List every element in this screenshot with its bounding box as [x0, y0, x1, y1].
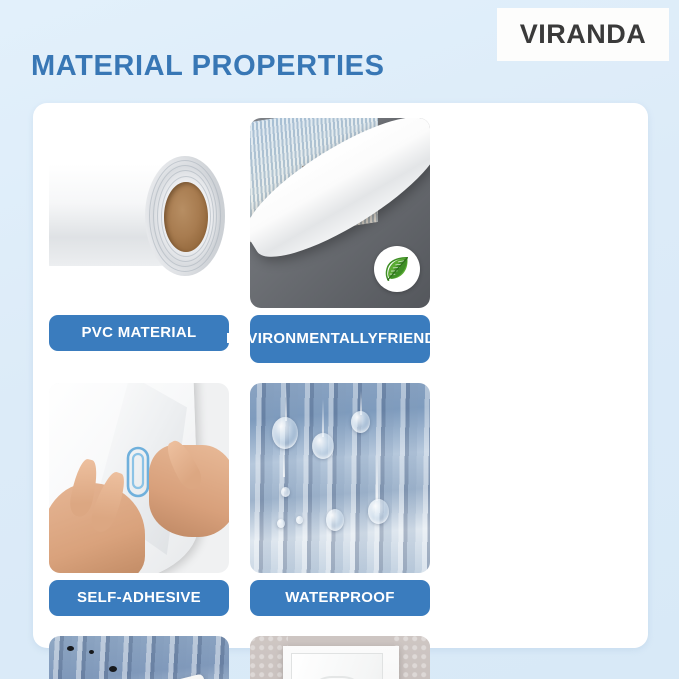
- pvc-roll-photo: [49, 118, 229, 308]
- leaf-icon: [374, 246, 420, 292]
- card-label-waterproof: WATERPROOF: [250, 580, 430, 616]
- stain-spot-shape: [109, 666, 117, 672]
- feature-card-easy-to-clean: EASY TO CLEAN: [49, 636, 229, 679]
- water-droplet-shape: [326, 509, 344, 531]
- water-droplet-shape: [351, 411, 370, 433]
- feature-card-no-glue: NO GLUE: [250, 636, 430, 679]
- water-droplet-shape: [296, 516, 303, 524]
- card-label-self-adhesive: SELF-ADHESIVE: [49, 580, 229, 616]
- hands-peeling-backing-photo: [49, 383, 229, 573]
- feature-card-self-adhesive: SELF-ADHESIVE: [49, 383, 229, 616]
- droplet-trail-shape: [322, 399, 324, 437]
- droplet-trail-shape: [376, 453, 378, 501]
- brand-name: VIRANDA: [520, 19, 647, 50]
- feature-card-waterproof: WATERPROOF: [250, 383, 430, 616]
- water-droplet-shape: [277, 519, 285, 528]
- water-droplets-photo: [250, 383, 430, 573]
- roll-core-shape: [164, 182, 208, 252]
- water-droplet-shape: [312, 433, 334, 459]
- water-droplet-shape: [272, 417, 298, 449]
- door-shape: [291, 653, 383, 679]
- card-label-environmentally-friendly: ENVIRONMENTALLY FRIENDLY: [250, 315, 430, 363]
- water-droplet-shape: [368, 499, 389, 524]
- droplet-trail-shape: [285, 387, 287, 421]
- white-door-photo: [250, 636, 430, 679]
- card-label-pvc-material: PVC MATERIAL: [49, 315, 229, 351]
- feature-card-grid: PVC MATERIAL: [49, 118, 630, 679]
- card-label-line-2: FRIENDLY: [378, 331, 454, 347]
- stain-spot-shape: [89, 650, 94, 654]
- page-title: MATERIAL PROPERTIES: [31, 50, 385, 83]
- hand-wiping-stain-photo: [49, 636, 229, 679]
- vinyl-sheet-peeling-photo: [250, 118, 430, 308]
- feature-card-pvc-material: PVC MATERIAL: [49, 118, 229, 363]
- water-droplet-shape: [281, 487, 290, 497]
- stain-spot-shape: [67, 646, 74, 651]
- cleaning-cloth-shape: [142, 673, 217, 679]
- feature-card-environmentally-friendly: ENVIRONMENTALLY FRIENDLY: [250, 118, 430, 363]
- wall-right-shape: [394, 636, 430, 679]
- sheet-corner-shape: [399, 118, 418, 120]
- brand-logo: VIRANDA: [497, 8, 669, 61]
- door-frame-shape: [283, 646, 399, 679]
- paperclip-icon: [125, 445, 151, 504]
- droplet-trail-shape: [283, 447, 285, 477]
- card-label-line-1: ENVIRONMENTALLY: [226, 331, 378, 347]
